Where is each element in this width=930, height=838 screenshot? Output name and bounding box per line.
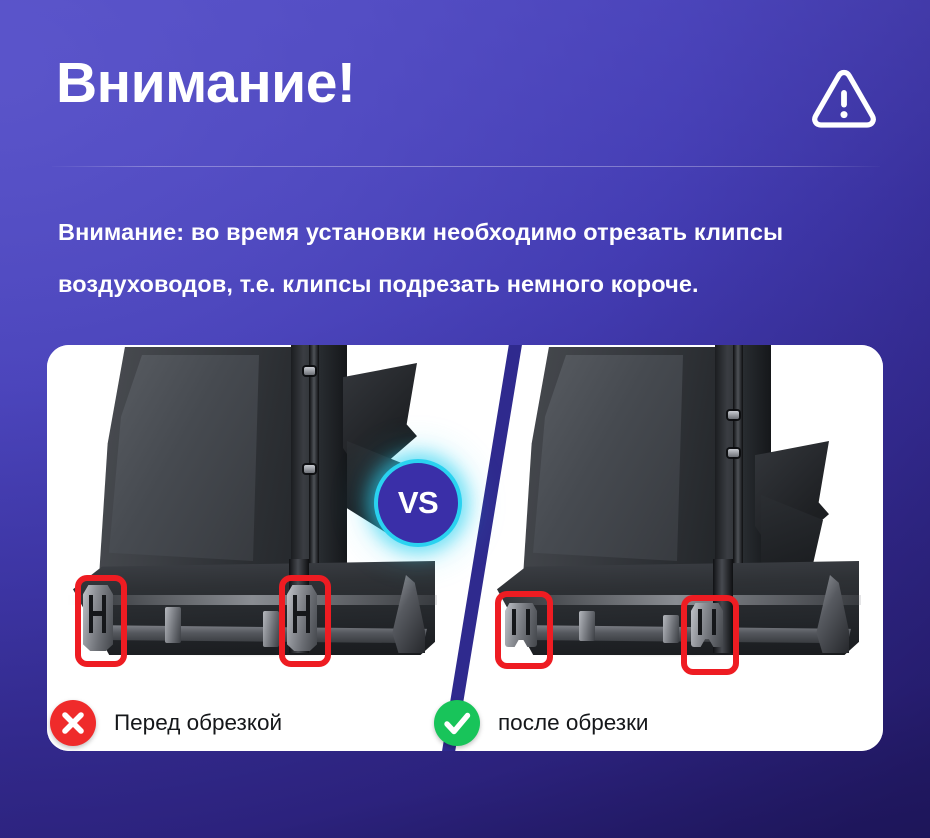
before-photo xyxy=(47,345,465,751)
header-divider xyxy=(52,166,880,167)
after-legend: после обрезки xyxy=(434,700,649,746)
before-legend: Перед обрезкой xyxy=(50,700,282,746)
header: Внимание! xyxy=(0,0,930,168)
clip-highlight-left-1 xyxy=(75,575,127,667)
check-icon xyxy=(434,700,480,746)
cross-icon xyxy=(50,700,96,746)
clip-highlight-right-1 xyxy=(495,591,553,669)
after-label: после обрезки xyxy=(498,710,649,736)
page-title: Внимание! xyxy=(56,55,355,112)
vs-badge: VS xyxy=(374,459,462,547)
clip-highlight-right-2 xyxy=(681,595,739,675)
comparison-card xyxy=(47,345,883,751)
warning-triangle-icon xyxy=(810,66,878,130)
clip-highlight-left-2 xyxy=(279,575,331,667)
warning-paragraph: Внимание: во время установки необходимо … xyxy=(58,206,898,310)
vs-label: VS xyxy=(398,485,438,521)
before-label: Перед обрезкой xyxy=(114,710,282,736)
after-photo xyxy=(465,345,883,751)
